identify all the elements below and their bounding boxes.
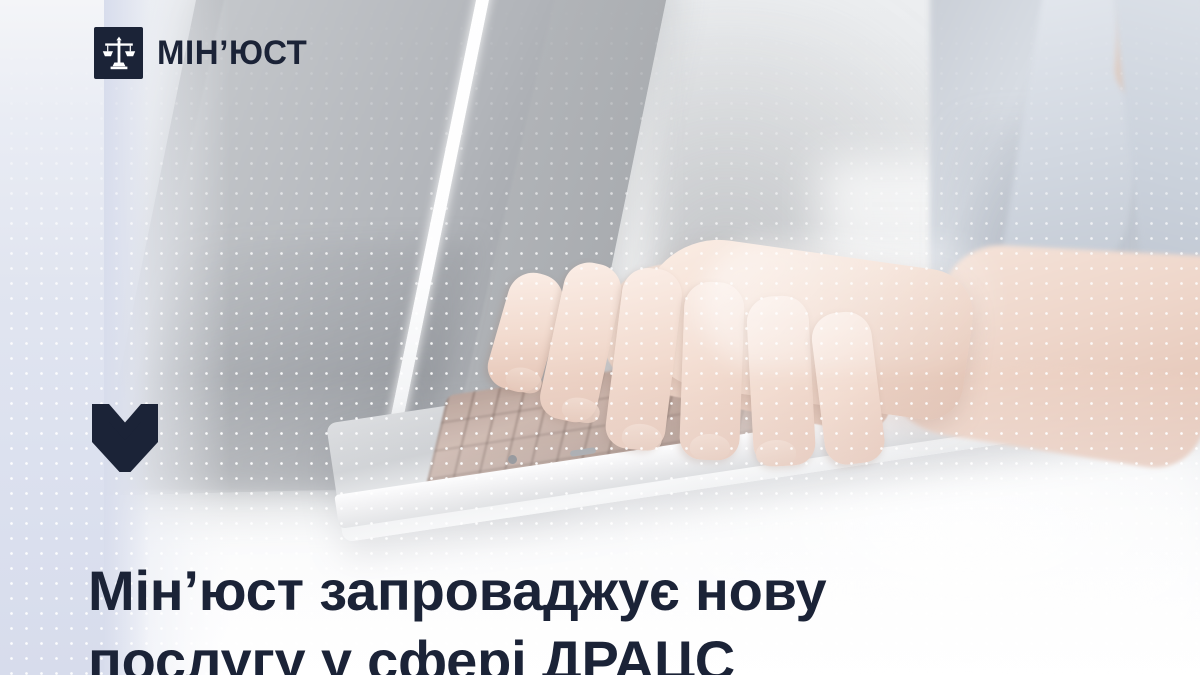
promo-banner: МІН’ЮСТ Мін’юст запроваджує нову послугу… <box>0 0 1200 675</box>
double-chevron-down-icon <box>92 404 158 472</box>
page-title: Мін’юст запроваджує нову послугу у сфері… <box>88 556 928 675</box>
headline-line-1: Мін’юст запроваджує нову <box>88 556 928 627</box>
ministry-wordmark: МІН’ЮСТ <box>157 36 307 70</box>
scales-of-justice-icon <box>94 27 143 79</box>
ministry-logo[interactable]: МІН’ЮСТ <box>94 27 312 79</box>
headline-line-2: послугу у сфері ДРАЦС <box>88 626 928 675</box>
photo-hand-highlight <box>700 240 1000 370</box>
